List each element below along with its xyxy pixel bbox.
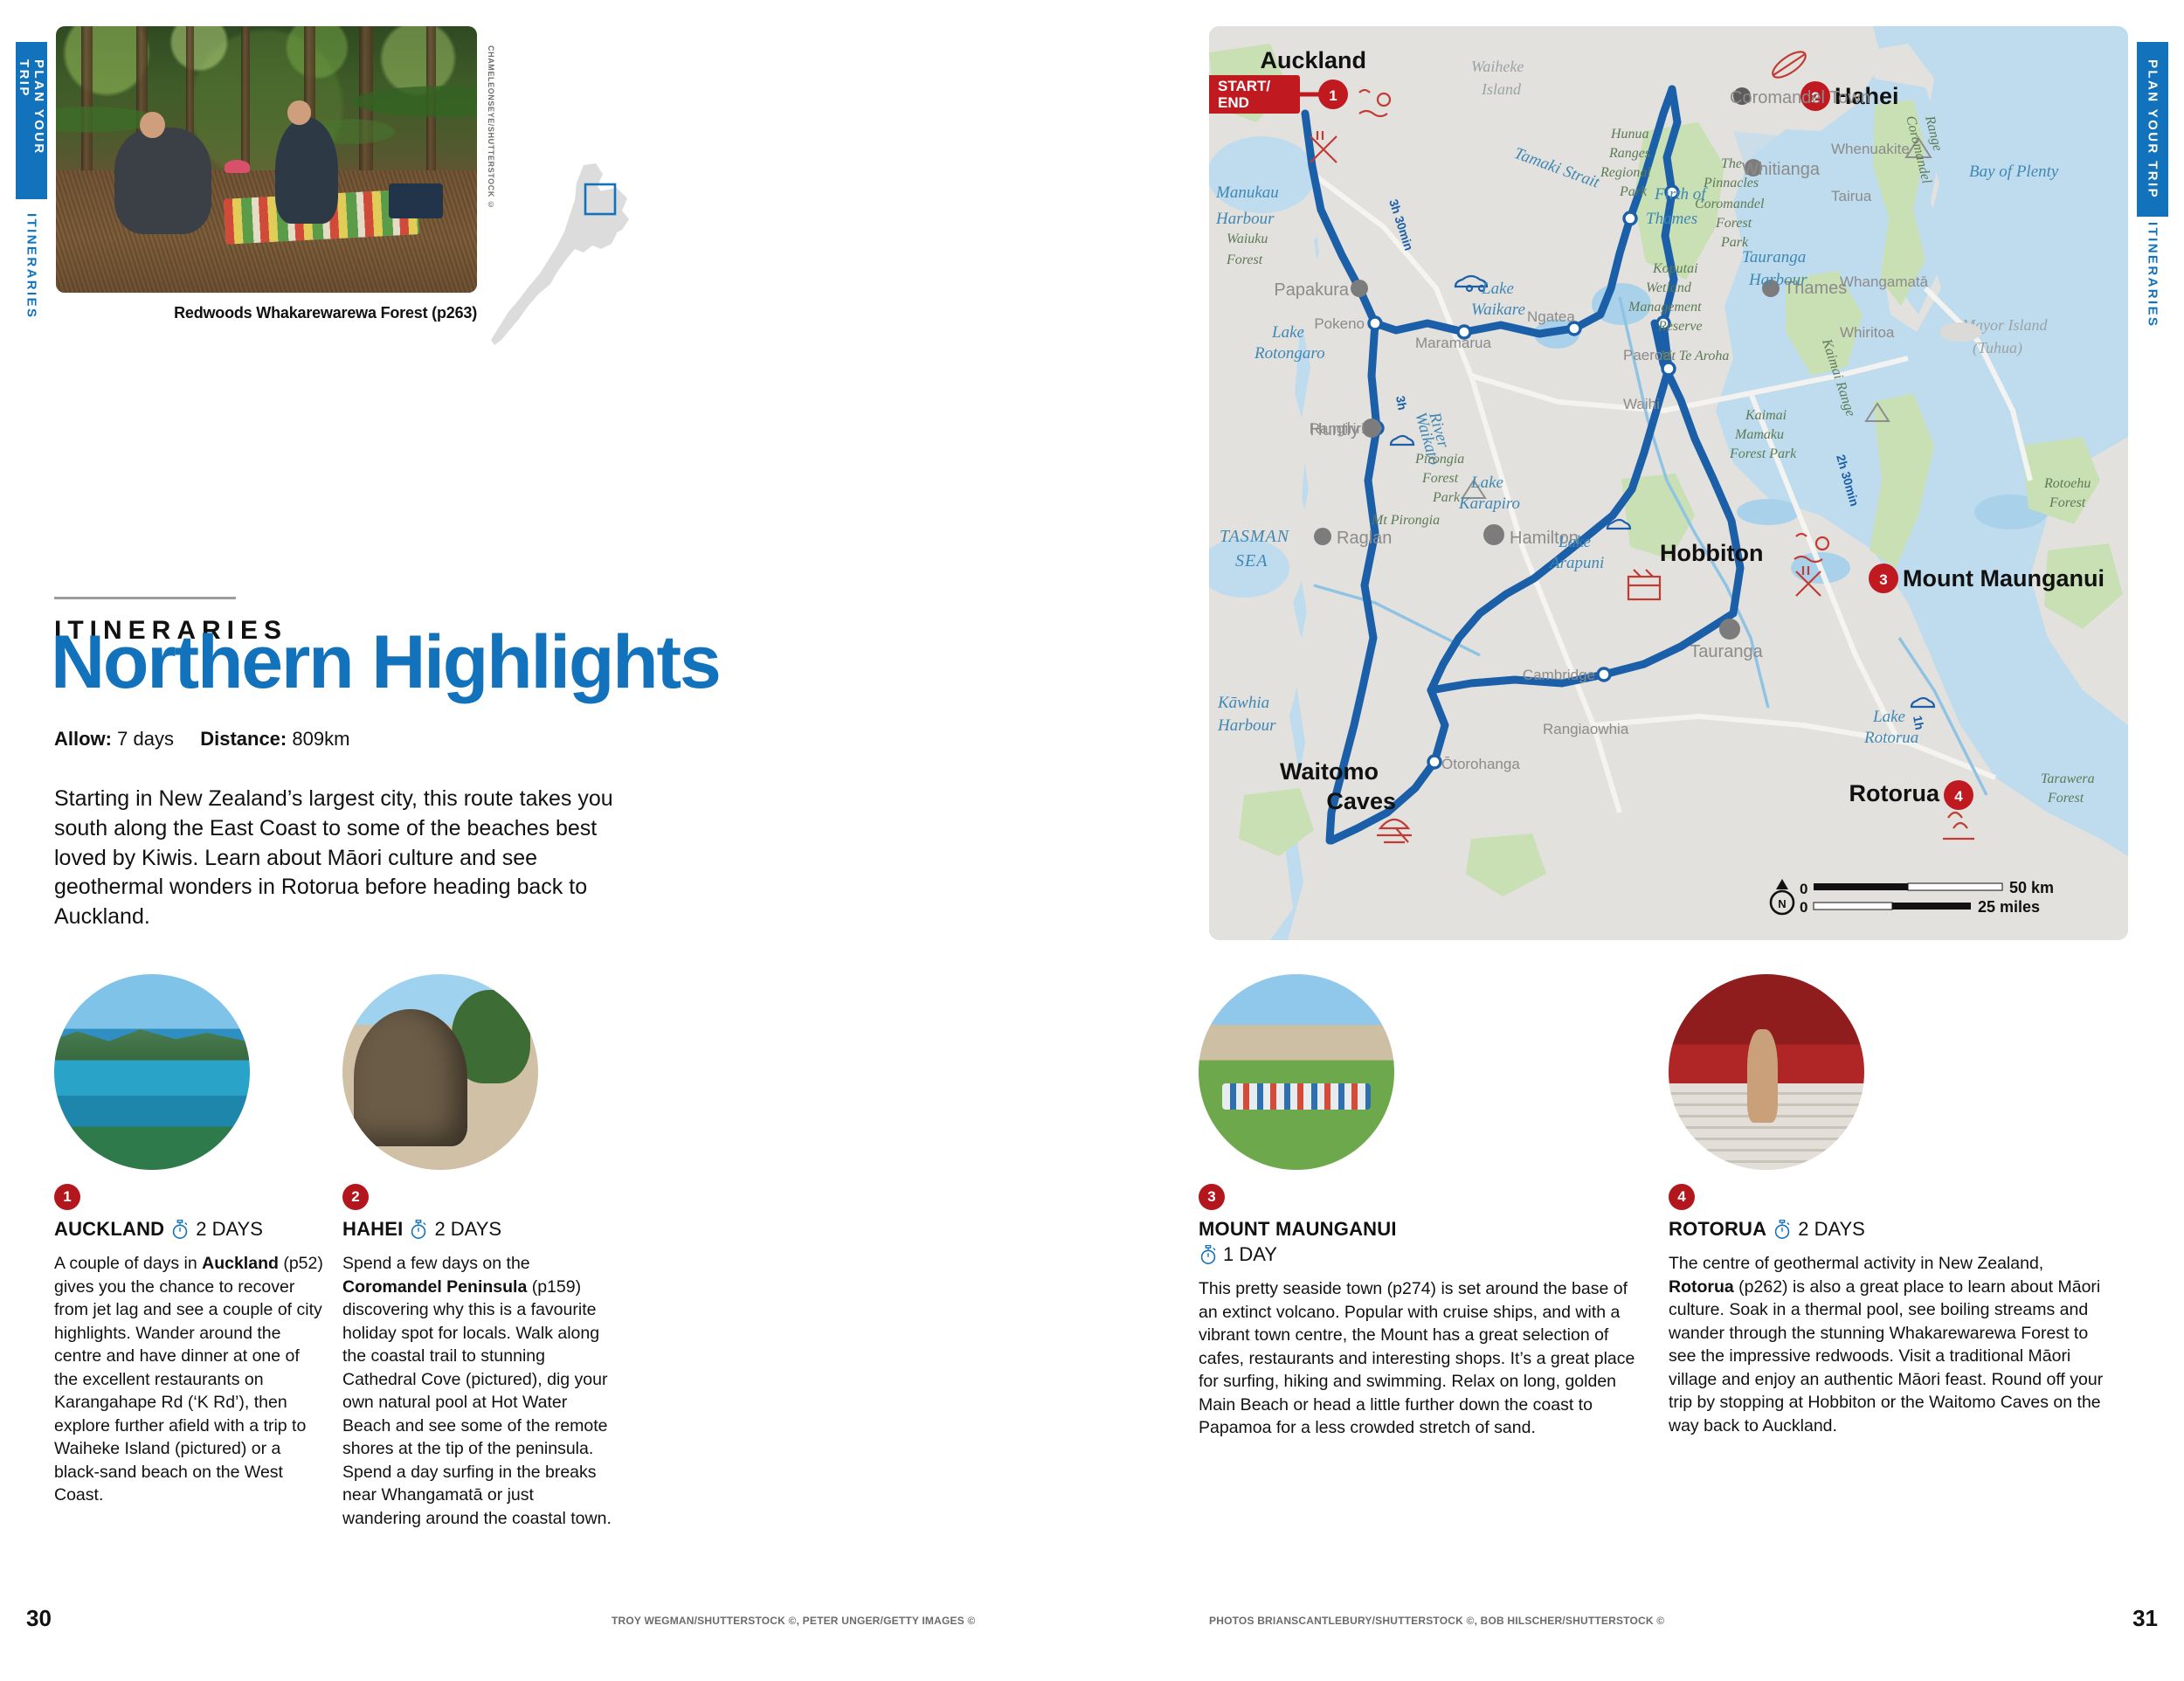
sidebar-tab-left-itineraries: ITINERARIES [16,210,47,323]
svg-text:Auckland: Auckland [1260,47,1366,73]
stop-number-badge-3: 3 [1199,1184,1225,1210]
stop-duration-4: 2 DAYS [1798,1218,1865,1241]
svg-text:Lake: Lake [1271,323,1304,342]
svg-text:Harbour: Harbour [1748,271,1807,289]
svg-text:Ngatea: Ngatea [1527,308,1575,325]
svg-text:0: 0 [1800,899,1807,916]
svg-text:Rotoehu: Rotoehu [2043,476,2091,491]
svg-text:Coromandel: Coromandel [1695,197,1765,211]
allow-label: Allow: [54,728,112,750]
svg-text:Whiritoa: Whiritoa [1840,324,1895,341]
distance-value: 809km [292,728,349,750]
map-marker-3-mount-maunganui[interactable]: 3 Mount Maunganui [1869,564,2105,593]
svg-text:Papakura: Papakura [1274,280,1349,300]
page-title: Northern Highlights [51,625,1012,702]
svg-text:Thames: Thames [1646,210,1697,228]
page-number-left: 30 [26,1605,52,1632]
svg-text:Mt Te Aroha: Mt Te Aroha [1659,349,1729,363]
svg-text:Manukau: Manukau [1215,183,1279,202]
svg-text:Forest Park: Forest Park [1729,446,1797,461]
page-number-right: 31 [2132,1605,2158,1632]
stop-body-1: A couple of days in Auckland (p52) gives… [54,1252,327,1507]
thumbnail-rotorua-maori-village [1669,974,1864,1170]
svg-text:Koputai: Koputai [1652,261,1698,276]
svg-text:Regional: Regional [1600,165,1651,180]
svg-text:Hobbiton: Hobbiton [1660,540,1763,566]
stop-name-4: ROTORUA [1669,1218,1766,1241]
hero-child-hat [225,160,250,173]
stop-number-badge-2: 2 [342,1184,369,1210]
itinerary-card-4[interactable]: 4 ROTORUA 2 DAYS The centre of geotherma… [1669,974,2105,1437]
svg-text:3: 3 [1879,571,1887,588]
hero-figure-adult-right [275,117,338,224]
svg-text:25 miles: 25 miles [1978,898,2040,916]
svg-text:50 km: 50 km [2009,879,2054,896]
stop-heading-1: AUCKLAND 2 DAYS [54,1218,327,1241]
hero-figure-head-right [287,100,311,124]
stop-heading-3: MOUNT MAUNGANUI 1 DAY [1199,1218,1635,1266]
svg-text:Karapiro: Karapiro [1458,495,1520,513]
route-map-svg[interactable]: .lbl-town { font-family:"Liberation Sans… [1209,26,2128,940]
itinerary-card-1[interactable]: 1 AUCKLAND 2 DAYS A couple of days in Au… [54,974,327,1507]
svg-text:Island: Island [1481,80,1522,98]
stop-duration-2: 2 DAYS [434,1218,501,1241]
svg-text:Raglan: Raglan [1337,529,1392,548]
hero-caption: Redwoods Whakarewarewa Forest (p263) [56,304,477,322]
svg-text:Whenuakite: Whenuakite [1831,141,1910,157]
svg-text:3h: 3h [1393,395,1410,412]
stopwatch-icon [409,1220,428,1240]
svg-text:Lake: Lake [1470,474,1503,492]
map-marker-4-rotorua[interactable]: 4 Rotorua [1849,780,1974,810]
svg-text:START/: START/ [1218,78,1270,94]
svg-text:Management: Management [1628,300,1702,315]
sidebar-tab-left-plan-your-trip: PLAN YOUR TRIP [16,59,47,190]
svg-text:Forest: Forest [1715,216,1752,231]
hero-figure-adult-left [114,128,211,234]
heading-rule [54,597,236,599]
stop-number-badge-4: 4 [1669,1184,1695,1210]
svg-text:1h: 1h [1911,715,1927,731]
svg-text:TASMAN: TASMAN [1220,527,1290,546]
svg-text:Pinnacles: Pinnacles [1703,176,1759,190]
svg-text:The: The [1721,156,1742,171]
svg-text:Waitomo: Waitomo [1280,758,1379,785]
route-map[interactable]: .lbl-town { font-family:"Liberation Sans… [1209,26,2128,940]
stopwatch-icon [1199,1245,1218,1265]
photo-credit-right: PHOTOS BRIANSCANTLEBURY/SHUTTERSTOCK ©, … [1209,1615,1664,1627]
svg-text:Forest: Forest [1421,471,1459,486]
allow-value: 7 days [117,728,174,750]
svg-text:Pirongia: Pirongia [1414,452,1464,467]
svg-text:Harbour: Harbour [1215,210,1275,228]
itinerary-card-2[interactable]: 2 HAHEI 2 DAYS Spend a few days on the C… [342,974,615,1530]
svg-text:Tauranga: Tauranga [1690,642,1763,661]
svg-text:Kāwhia: Kāwhia [1217,694,1269,712]
stop-heading-4: ROTORUA 2 DAYS [1669,1218,2105,1241]
stop-number-badge-1: 1 [54,1184,80,1210]
svg-text:Lake: Lake [1872,708,1905,726]
stop-body-3: This pretty seaside town (p274) is set a… [1199,1277,1635,1440]
svg-text:Rotorua: Rotorua [1849,780,1940,806]
stopwatch-icon [1773,1220,1792,1240]
svg-text:Ōtorohanga: Ōtorohanga [1441,756,1520,772]
svg-text:Park: Park [1432,490,1461,505]
svg-text:Mt Pirongia: Mt Pirongia [1371,513,1440,528]
svg-text:Rangiriri: Rangiriri [1310,420,1365,437]
svg-text:Coromandel Town: Coromandel Town [1730,88,1870,107]
svg-text:Whangamatā: Whangamatā [1840,273,1929,290]
svg-text:4: 4 [1954,788,1963,805]
svg-text:Ranges: Ranges [1608,146,1650,161]
stop-body-2: Spend a few days on the Coromandel Penin… [342,1252,615,1530]
page-spread: PLAN YOUR TRIP ITINERARIES PLAN YOUR TRI… [0,0,2184,1681]
stop-duration-3: 1 DAY [1223,1243,1277,1266]
trip-meta: Allow: 7 days Distance: 809km [54,728,349,751]
svg-text:Caves: Caves [1326,788,1396,814]
svg-text:SEA: SEA [1235,551,1268,571]
itinerary-card-3[interactable]: 3 MOUNT MAUNGANUI 1 DAY This pretty seas… [1199,974,1635,1440]
svg-text:0: 0 [1800,881,1807,897]
svg-text:Harbour: Harbour [1217,716,1276,735]
svg-text:Waiheke: Waiheke [1471,58,1524,75]
svg-text:Hunua: Hunua [1610,127,1649,142]
stop-name-2: HAHEI [342,1218,403,1241]
svg-text:Arapuni: Arapuni [1548,554,1604,572]
sidebar-tab-right-itineraries: ITINERARIES [2137,220,2168,329]
svg-text:Reserve: Reserve [1657,319,1703,334]
sidebar-tab-right-plan-your-trip: PLAN YOUR TRIP [2137,58,2168,202]
svg-text:Tarawera: Tarawera [2041,771,2095,786]
sidebar-tab-left-itineraries-label: ITINERARIES [16,210,47,323]
stop-body-4: The centre of geothermal activity in New… [1669,1252,2105,1437]
svg-text:N: N [1778,897,1786,910]
svg-text:Rotorua: Rotorua [1863,729,1918,747]
svg-text:Wetland: Wetland [1646,280,1692,295]
stop-name-3: MOUNT MAUNGANUI [1199,1218,1397,1240]
svg-text:Waiuku: Waiuku [1227,232,1268,246]
new-zealand-locator-map [489,162,655,349]
hero-photo-redwoods-forest [56,26,477,293]
svg-text:Waikare: Waikare [1471,301,1525,319]
photo-credit-left: TROY WEGMAN/SHUTTERSTOCK ©, PETER UNGER/… [612,1615,976,1627]
stop-name-1: AUCKLAND [54,1218,164,1241]
thumbnail-hahei-cathedral-cove [342,974,538,1170]
sidebar-tab-left-plan-label: PLAN YOUR TRIP [16,59,47,190]
svg-text:Bay of Plenty: Bay of Plenty [1969,163,2059,181]
svg-text:Cambridge: Cambridge [1523,667,1595,683]
svg-text:Tauranga: Tauranga [1742,248,1806,266]
intro-paragraph: Starting in New Zealand’s largest city, … [54,785,631,932]
svg-text:(Tuhua): (Tuhua) [1973,339,2022,357]
distance-label: Distance: [200,728,287,750]
stopwatch-icon [170,1220,190,1240]
svg-text:Forest: Forest [2047,791,2084,806]
svg-text:Pokeno: Pokeno [1314,315,1365,332]
stop-heading-2: HAHEI 2 DAYS [342,1218,615,1241]
svg-text:Forest: Forest [2049,495,2086,510]
svg-text:Maramarua: Maramarua [1415,335,1491,351]
svg-text:Tairua: Tairua [1831,188,1872,204]
svg-text:Waihi: Waihi [1623,396,1660,412]
svg-text:Lake: Lake [1481,280,1514,298]
svg-text:Rangiaowhia: Rangiaowhia [1543,721,1629,737]
svg-text:Forest: Forest [1226,252,1263,267]
svg-text:Mamaku: Mamaku [1734,427,1784,442]
svg-text:Park: Park [1720,235,1749,250]
stop-duration-1: 2 DAYS [196,1218,263,1241]
svg-text:Rotongaro: Rotongaro [1254,344,1325,363]
thumbnail-mount-maunganui-beach [1199,974,1394,1170]
svg-text:Lake: Lake [1558,533,1591,551]
svg-text:Mount Maunganui: Mount Maunganui [1903,565,2105,591]
nz-north-south-island-shape [491,163,617,345]
svg-text:END: END [1218,94,1249,111]
hero-cooler-bag [389,183,444,218]
sidebar-tab-right-plan-label: PLAN YOUR TRIP [2137,58,2168,202]
sidebar-tab-right-itineraries-label: ITINERARIES [2137,220,2168,329]
svg-text:Park: Park [1619,184,1648,199]
svg-text:Kaimai: Kaimai [1745,408,1787,423]
svg-text:1: 1 [1329,87,1337,104]
thumbnail-auckland-waiheke [54,974,250,1170]
